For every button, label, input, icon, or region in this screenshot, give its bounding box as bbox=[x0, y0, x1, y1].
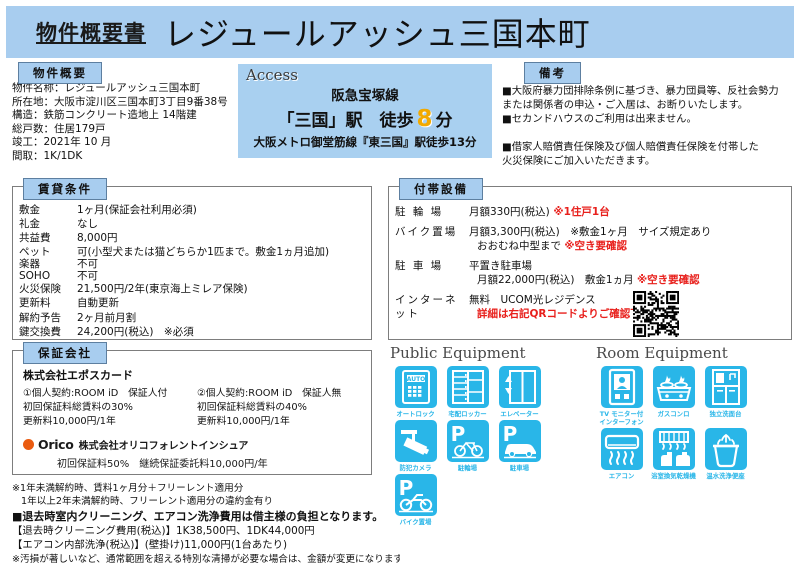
equipment-item: 宅配ロッカー bbox=[442, 366, 493, 418]
bottom-notes: ※1年未満解約時、賃料1ヶ月分＋フリーレント適用分1年以上2年未満解約時、フリー… bbox=[12, 482, 412, 566]
svg-text:P: P bbox=[450, 422, 465, 446]
remarks-badge: 備考 bbox=[524, 62, 581, 84]
facility-row: 駐 車 場平置き駐車場月額22,000円(税込) 敷金1ヵ月 ※空き要確認 bbox=[395, 259, 791, 288]
rental-condition-key: 敷金 bbox=[19, 203, 77, 217]
header-label: 物件概要書 bbox=[36, 17, 146, 47]
property-overview-line: 所在地：大阪市淀川区三国本町3丁目9番38号 bbox=[12, 96, 237, 110]
facility-key: インターネット bbox=[395, 293, 469, 322]
room-equipment-panel: Room Equipment TV モニター付 インターフォンガスコンロ独立洗面… bbox=[596, 344, 796, 482]
equipment-item: 防犯カメラ bbox=[390, 420, 441, 472]
remarks-line bbox=[502, 126, 798, 140]
equipment-item: 温水洗浄便座 bbox=[700, 428, 751, 480]
facility-note: ※1住戸1台 bbox=[550, 206, 610, 218]
property-overview-badge: 物件概要 bbox=[18, 62, 102, 84]
remarks-line: ■大阪府暴力団排除条例に基づき、暴力団員等、反社会勢力 bbox=[502, 84, 798, 98]
access-sub: 大阪メトロ御堂筋線『東三国』駅徒歩13分 bbox=[238, 134, 492, 150]
property-overview-list: 物件名称：レジュールアッシュ三国本町所在地：大阪市淀川区三国本町3丁目9番38号… bbox=[12, 82, 237, 164]
facility-value-group: 平置き駐車場月額22,000円(税込) 敷金1ヵ月 ※空き要確認 bbox=[469, 259, 700, 288]
rental-condition-row: 共益費8,000円 bbox=[19, 231, 329, 245]
equipment-item: AUTOオートロック bbox=[390, 366, 441, 418]
rental-condition-row: 敷金1ヶ月(保証会社利用必須) bbox=[19, 203, 329, 217]
elevator-icon bbox=[499, 366, 541, 408]
remarks-line: または関係者の申込・ご入居は、お断りいたします。 bbox=[502, 98, 798, 112]
access-minutes: 8 bbox=[413, 106, 435, 132]
equipment-label: バイク置場 bbox=[390, 518, 441, 526]
facilities-rows: 駐 輪 場月額330円(税込) ※1住戸1台バイク置場月額3,300円(税込) … bbox=[395, 205, 791, 327]
car-parking-icon: P bbox=[499, 420, 541, 462]
qr-code bbox=[633, 291, 679, 337]
property-overview-line: 構造：鉄筋コンクリート造地上 14階建 bbox=[12, 109, 237, 123]
guarantee-plan-line: 更新料10,000円/1年 bbox=[23, 415, 183, 429]
bottom-note-line: 【エアコン内部洗浄(税込)】(壁掛け)11,000円(1台あたり) bbox=[12, 538, 412, 552]
rental-condition-key: ペット bbox=[19, 246, 77, 258]
page-title: レジュールアッシュ三国本町 bbox=[164, 9, 591, 55]
rental-condition-value: なし bbox=[77, 217, 98, 231]
facility-subvalue: おおむね中型まで ※空き要確認 bbox=[469, 239, 711, 254]
access-label: Access bbox=[246, 66, 298, 84]
bottom-note-line: ※汚損が著しいなど、通常範囲を超える特別な清掃が必要な場合は、金額が変更になりま… bbox=[12, 553, 400, 566]
equipment-label: 宅配ロッカー bbox=[442, 410, 493, 418]
facility-value-group: 月額3,300円(税込) ※敷金1ヶ月 サイズ規定ありおおむね中型まで ※空き要… bbox=[469, 225, 711, 254]
rental-condition-row: 火災保険21,500円/2年(東京海上ミレア保険) bbox=[19, 282, 329, 296]
svg-text:AUTO: AUTO bbox=[406, 376, 425, 383]
rental-condition-value: 1ヶ月(保証会社利用必須) bbox=[77, 203, 197, 217]
equipment-item: 浴室換気乾燥機 bbox=[648, 428, 699, 480]
guarantee-plan-line: 初回保証料総賃料の30% bbox=[23, 401, 183, 415]
facility-subvalue-text: おおむね中型まで bbox=[477, 240, 564, 252]
washlet-icon bbox=[705, 428, 747, 470]
guarantee-plan: ①個人契約:ROOM iD 保証人付初回保証料総賃料の30%更新料10,000円… bbox=[23, 387, 183, 429]
rental-condition-value: 8,000円 bbox=[77, 231, 118, 245]
access-station-prefix: 「三国」駅 徒歩 bbox=[277, 111, 413, 131]
rental-condition-row: SOHO不可 bbox=[19, 270, 329, 282]
delivery-locker-icon bbox=[447, 366, 489, 408]
rental-condition-row: 解約予告2ヶ月前月割 bbox=[19, 311, 329, 325]
property-overview-line: 間取：1K/1DK bbox=[12, 150, 237, 164]
rental-condition-value: 24,200円(税込) ※必須 bbox=[77, 325, 194, 339]
tv-intercom-icon bbox=[601, 366, 643, 408]
guarantee-company-name: 株式会社エポスカード bbox=[23, 367, 367, 383]
equipment-item: P駐輪場 bbox=[442, 420, 493, 472]
bath-dryer-icon bbox=[653, 428, 695, 470]
rental-condition-key: 礼金 bbox=[19, 217, 77, 231]
guarantee-plan-line: ②個人契約:ROOM iD 保証人無 bbox=[197, 387, 357, 401]
remarks-line: 火災保険にご加入いただきます。 bbox=[502, 154, 798, 168]
bottom-note-line: 1年以上2年未満解約時、フリーレント適用分の違約金有り bbox=[12, 495, 412, 508]
equipment-label: 温水洗浄便座 bbox=[700, 472, 751, 480]
bottom-note-line: 【退去時クリーニング費用(税込)】1K38,500円、1DK44,000円 bbox=[12, 524, 412, 538]
public-equipment-panel: Public Equipment AUTOオートロック宅配ロッカーエレベーター防… bbox=[390, 344, 595, 528]
orico-company-name: 株式会社オリコフォレントインシュア bbox=[79, 437, 249, 452]
rental-condition-row: 鍵交換費24,200円(税込) ※必須 bbox=[19, 325, 329, 339]
public-equipment-grid: AUTOオートロック宅配ロッカーエレベーター防犯カメラP駐輪場P駐車場Pバイク置… bbox=[390, 366, 595, 528]
access-line: 阪急宝塚線 bbox=[238, 84, 492, 104]
rental-condition-key: 共益費 bbox=[19, 231, 77, 245]
rental-condition-row: 更新料自動更新 bbox=[19, 296, 329, 310]
equipment-item: P駐車場 bbox=[494, 420, 545, 472]
room-equipment-grid: TV モニター付 インターフォンガスコンロ独立洗面台エアコン浴室換気乾燥機温水洗… bbox=[596, 366, 796, 482]
guarantee-plan-line: ①個人契約:ROOM iD 保証人付 bbox=[23, 387, 183, 401]
rental-condition-value: 不可 bbox=[77, 270, 98, 282]
orico-row: Orico 株式会社オリコフォレントインシュア bbox=[23, 437, 367, 452]
rental-condition-key: 楽器 bbox=[19, 258, 77, 270]
facility-subvalue-note: ※空き要確認 bbox=[564, 240, 627, 252]
facility-subvalue-note: ※空き要確認 bbox=[637, 274, 700, 286]
equipment-label: 駐車場 bbox=[494, 464, 545, 472]
facility-value-group: 月額330円(税込) ※1住戸1台 bbox=[469, 205, 610, 220]
motorcycle-parking-icon: P bbox=[395, 474, 437, 516]
guarantee-plan-line: 初回保証料総賃料の40% bbox=[197, 401, 357, 415]
auto-lock-icon: AUTO bbox=[395, 366, 437, 408]
equipment-label: TV モニター付 インターフォン bbox=[596, 410, 647, 426]
gas-stove-icon bbox=[653, 366, 695, 408]
facilities-section: 付帯設備 駐 輪 場月額330円(税込) ※1住戸1台バイク置場月額3,300円… bbox=[388, 186, 792, 340]
property-overview-line: 物件名称：レジュールアッシュ三国本町 bbox=[12, 82, 237, 96]
guarantee-company-section: 保証会社 株式会社エポスカード ①個人契約:ROOM iD 保証人付初回保証料総… bbox=[12, 350, 372, 475]
svg-text:P: P bbox=[502, 422, 517, 446]
rental-condition-key: 解約予告 bbox=[19, 311, 77, 325]
rental-condition-value: 2ヶ月前月割 bbox=[77, 311, 136, 325]
facility-key: バイク置場 bbox=[395, 225, 469, 254]
security-camera-icon bbox=[395, 420, 437, 462]
facility-value: 月額3,300円(税込) ※敷金1ヶ月 サイズ規定あり bbox=[469, 225, 711, 240]
equipment-item: エレベーター bbox=[494, 366, 545, 418]
orico-fee: 初回保証料50% 継続保証委託料10,000円/年 bbox=[23, 455, 367, 470]
equipment-label: 駐輪場 bbox=[442, 464, 493, 472]
guarantee-plan-columns: ①個人契約:ROOM iD 保証人付初回保証料総賃料の30%更新料10,000円… bbox=[23, 387, 367, 429]
equipment-item: エアコン bbox=[596, 428, 647, 480]
rental-condition-key: 更新料 bbox=[19, 296, 77, 310]
facility-subvalue: 月額22,000円(税込) 敷金1ヵ月 ※空き要確認 bbox=[469, 273, 700, 288]
property-overview-line: 総戸数：住居179戸 bbox=[12, 123, 237, 137]
access-minutes-suffix: 分 bbox=[436, 111, 453, 131]
equipment-item: ガスコンロ bbox=[648, 366, 699, 426]
svg-text:P: P bbox=[398, 476, 413, 500]
orico-dot-icon bbox=[23, 439, 34, 450]
equipment-label: オートロック bbox=[390, 410, 441, 418]
orico-brand: Orico bbox=[38, 437, 74, 452]
access-panel: Access 阪急宝塚線 「三国」駅 徒歩8分 大阪メトロ御堂筋線『東三国』駅徒… bbox=[238, 64, 492, 158]
facility-key: 駐 車 場 bbox=[395, 259, 469, 288]
facility-row: バイク置場月額3,300円(税込) ※敷金1ヶ月 サイズ規定ありおおむね中型まで… bbox=[395, 225, 791, 254]
remarks-line: ■借家人賠償責任保険及び個人賠償責任保険を付帯した bbox=[502, 140, 798, 154]
equipment-item: TV モニター付 インターフォン bbox=[596, 366, 647, 426]
rental-condition-key: 鍵交換費 bbox=[19, 325, 77, 339]
facility-value: 月額330円(税込) ※1住戸1台 bbox=[469, 205, 610, 220]
rental-condition-value: 可(小型犬または猫どちらか1匹まで。敷金1ヵ月追加) bbox=[77, 246, 329, 258]
facility-value: 平置き駐車場 bbox=[469, 259, 700, 274]
equipment-item: 独立洗面台 bbox=[700, 366, 751, 426]
access-station-walk: 「三国」駅 徒歩8分 bbox=[238, 106, 492, 132]
bicycle-parking-icon: P bbox=[447, 420, 489, 462]
facility-subvalue-text: 月額22,000円(税込) 敷金1ヵ月 bbox=[477, 274, 637, 286]
rental-conditions-rows: 敷金1ヶ月(保証会社利用必須)礼金なし共益費8,000円ペット可(小型犬または猫… bbox=[19, 203, 329, 339]
public-equipment-title: Public Equipment bbox=[390, 344, 595, 362]
rental-condition-value: 21,500円/2年(東京海上ミレア保険) bbox=[77, 282, 248, 296]
equipment-label: 独立洗面台 bbox=[700, 410, 751, 418]
guarantee-plan: ②個人契約:ROOM iD 保証人無初回保証料総賃料の40%更新料10,000円… bbox=[197, 387, 357, 429]
rental-condition-row: 礼金なし bbox=[19, 217, 329, 231]
equipment-label: ガスコンロ bbox=[648, 410, 699, 418]
facility-row: 駐 輪 場月額330円(税込) ※1住戸1台 bbox=[395, 205, 791, 220]
rental-condition-key: SOHO bbox=[19, 270, 77, 282]
air-conditioner-icon bbox=[601, 428, 643, 470]
facility-row: インターネット無料 UCOM光レジデンス詳細は右記QRコードよりご確認下さい。 bbox=[395, 293, 791, 322]
rental-conditions-section: 賃貸条件 敷金1ヶ月(保証会社利用必須)礼金なし共益費8,000円ペット可(小型… bbox=[12, 186, 372, 340]
equipment-label: 防犯カメラ bbox=[390, 464, 441, 472]
room-equipment-title: Room Equipment bbox=[596, 344, 796, 362]
rental-condition-row: 楽器不可 bbox=[19, 258, 329, 270]
rental-condition-key: 火災保険 bbox=[19, 282, 77, 296]
guarantee-company-badge: 保証会社 bbox=[23, 342, 107, 364]
facility-key: 駐 輪 場 bbox=[395, 205, 469, 220]
rental-conditions-badge: 賃貸条件 bbox=[23, 178, 107, 200]
equipment-label: エアコン bbox=[596, 472, 647, 480]
rental-condition-row: ペット可(小型犬または猫どちらか1匹まで。敷金1ヵ月追加) bbox=[19, 246, 329, 258]
rental-condition-value: 不可 bbox=[77, 258, 98, 270]
guarantee-body: 株式会社エポスカード ①個人契約:ROOM iD 保証人付初回保証料総賃料の30… bbox=[23, 367, 367, 470]
vanity-sink-icon bbox=[705, 366, 747, 408]
facilities-badge: 付帯設備 bbox=[399, 178, 483, 200]
property-summary-sheet: 物件概要書 レジュールアッシュ三国本町 物件概要 物件名称：レジュールアッシュ三… bbox=[0, 0, 800, 550]
bottom-note-line: ※1年未満解約時、賃料1ヶ月分＋フリーレント適用分 bbox=[12, 482, 412, 495]
equipment-label: エレベーター bbox=[494, 410, 545, 418]
bottom-note-line: ■退去時室内クリーニング、エアコン洗浄費用は借主様の負担となります。 bbox=[12, 509, 412, 524]
remarks-line: ■セカンドハウスのご利用は出来ません。 bbox=[502, 112, 798, 126]
remarks-list: ■大阪府暴力団排除条例に基づき、暴力団員等、反社会勢力または関係者の申込・ご入居… bbox=[502, 84, 798, 168]
equipment-item: Pバイク置場 bbox=[390, 474, 441, 526]
equipment-label: 浴室換気乾燥機 bbox=[648, 472, 699, 480]
guarantee-plan-line: 更新料10,000円/1年 bbox=[197, 415, 357, 429]
rental-condition-value: 自動更新 bbox=[77, 296, 119, 310]
property-overview-line: 竣工：2021年 10 月 bbox=[12, 136, 237, 150]
page-header: 物件概要書 レジュールアッシュ三国本町 bbox=[6, 6, 794, 58]
